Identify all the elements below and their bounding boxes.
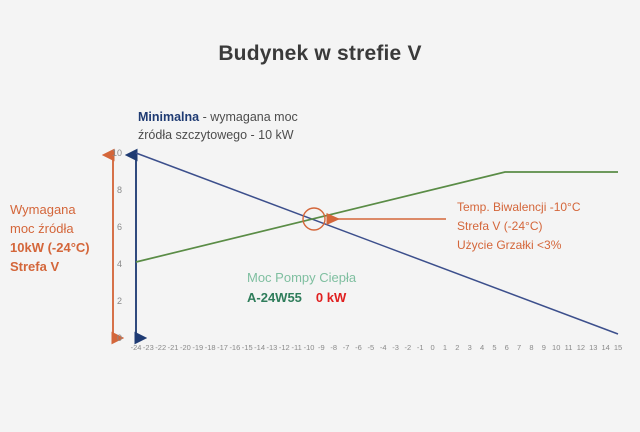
y-tick-label: 2 bbox=[104, 296, 122, 306]
x-tick-label: -4 bbox=[380, 343, 387, 352]
plot-area bbox=[0, 0, 640, 432]
x-tick-label: -14 bbox=[254, 343, 265, 352]
x-tick-label: -23 bbox=[143, 343, 154, 352]
x-axis-tick-labels: -24-23-22-21-20-19-18-17-16-15-14-13-12-… bbox=[130, 343, 620, 357]
x-tick-label: -24 bbox=[131, 343, 142, 352]
x-tick-label: 4 bbox=[480, 343, 484, 352]
y-tick-label: 6 bbox=[104, 222, 122, 232]
x-tick-label: 5 bbox=[492, 343, 496, 352]
x-tick-label: -20 bbox=[180, 343, 191, 352]
chart-canvas: Budynek w strefie V Minimalna - wymagana… bbox=[0, 0, 640, 432]
y-tick-label: 0 bbox=[104, 333, 122, 343]
x-tick-label: 8 bbox=[529, 343, 533, 352]
x-tick-label: 11 bbox=[565, 343, 573, 352]
x-tick-label: -21 bbox=[168, 343, 179, 352]
x-tick-label: 6 bbox=[505, 343, 509, 352]
x-tick-label: 13 bbox=[589, 343, 597, 352]
x-tick-label: 9 bbox=[542, 343, 546, 352]
series-line-heatpump bbox=[136, 172, 618, 262]
x-tick-label: -19 bbox=[192, 343, 203, 352]
x-tick-label: -7 bbox=[343, 343, 350, 352]
x-tick-label: -3 bbox=[392, 343, 399, 352]
y-tick-label: 8 bbox=[104, 185, 122, 195]
x-tick-label: -16 bbox=[229, 343, 240, 352]
x-tick-label: -5 bbox=[367, 343, 374, 352]
x-tick-label: -2 bbox=[405, 343, 412, 352]
x-tick-label: -9 bbox=[318, 343, 325, 352]
x-tick-label: 3 bbox=[468, 343, 472, 352]
x-tick-label: 7 bbox=[517, 343, 521, 352]
x-tick-label: -8 bbox=[330, 343, 337, 352]
x-tick-label: 0 bbox=[431, 343, 435, 352]
x-tick-label: -11 bbox=[292, 343, 302, 352]
x-tick-label: -17 bbox=[217, 343, 228, 352]
x-tick-label: -13 bbox=[267, 343, 278, 352]
x-tick-label: 14 bbox=[601, 343, 609, 352]
x-tick-label: -12 bbox=[279, 343, 290, 352]
x-tick-label: 12 bbox=[577, 343, 585, 352]
x-tick-label: 1 bbox=[443, 343, 447, 352]
y-axis-tick-labels: 0246810 bbox=[104, 0, 130, 432]
x-tick-label: -22 bbox=[155, 343, 166, 352]
y-tick-label: 4 bbox=[104, 259, 122, 269]
x-tick-label: -10 bbox=[304, 343, 315, 352]
x-tick-label: -15 bbox=[242, 343, 253, 352]
x-tick-label: -18 bbox=[205, 343, 216, 352]
x-tick-label: -1 bbox=[417, 343, 424, 352]
y-tick-label: 10 bbox=[104, 148, 122, 158]
x-tick-label: 15 bbox=[614, 343, 622, 352]
x-tick-label: -6 bbox=[355, 343, 362, 352]
x-tick-label: 2 bbox=[455, 343, 459, 352]
x-tick-label: 10 bbox=[552, 343, 560, 352]
